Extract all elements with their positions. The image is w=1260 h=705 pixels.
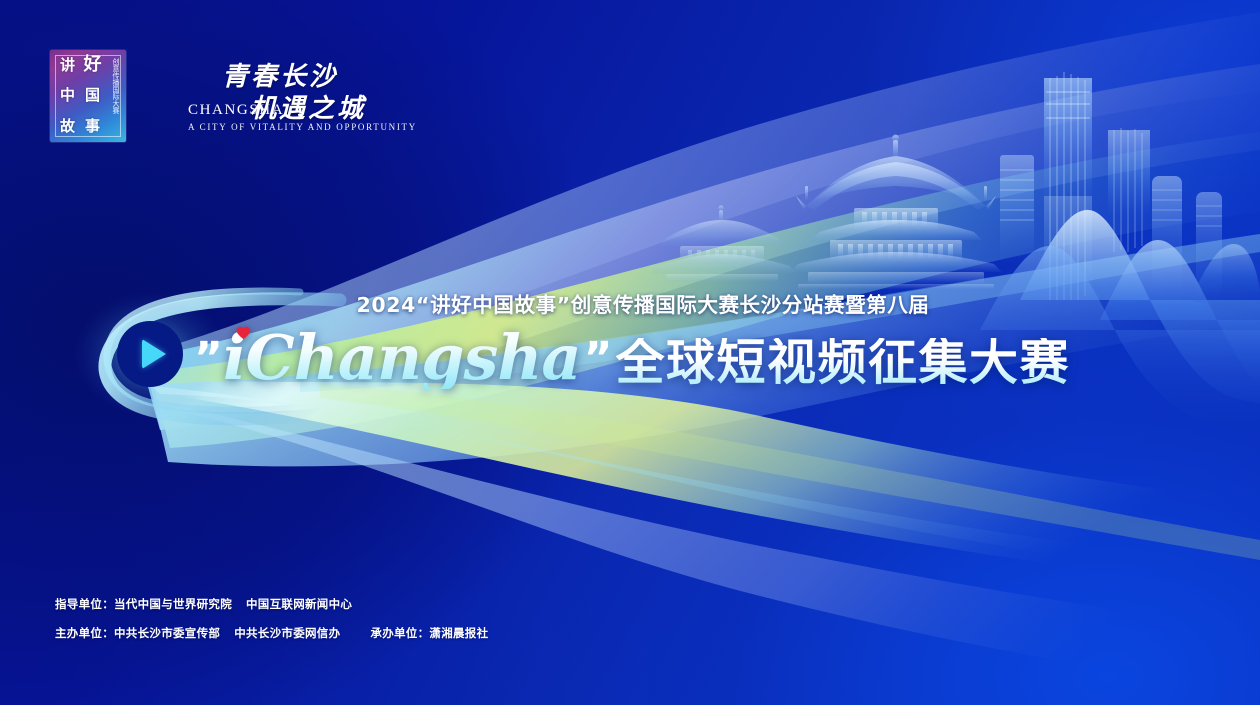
host-label: 主办单位： (55, 626, 114, 640)
headline-block: 2024“讲好中国故事”创意传播国际大赛长沙分站赛暨第八届 ” iChangsh… (0, 288, 1260, 389)
changsha-brand-cn-line2: 机遇之城 (250, 88, 366, 125)
title-ichangsha: iChangsha (221, 327, 583, 389)
title-quote-left: ” (194, 337, 223, 381)
credit-line-guidance: 指导单位：当代中国与世界研究院中国互联网新闻中心 (55, 596, 488, 612)
title-ichangsha-text: iChangsha (223, 321, 581, 394)
host-org-1: 中共长沙市委宣传部 (114, 626, 220, 640)
logo-characters: 讲 好 中 国 故 事 (55, 50, 105, 142)
logo-char-3: 中 (60, 88, 75, 103)
chinese-pavilion-silhouette (790, 135, 1002, 289)
undertaker-label: 承办单位： (370, 626, 429, 640)
credits-block: 指导单位：当代中国与世界研究院中国互联网新闻中心 主办单位：中共长沙市委宣传部中… (55, 596, 488, 641)
event-subtitle: 2024“讲好中国故事”创意传播国际大赛长沙分站赛暨第八届 (0, 288, 1260, 318)
logo-vertical-subtitle: 创意传播国际大赛 (107, 58, 119, 114)
heart-icon (236, 326, 251, 340)
changsha-city-brand: 青春长沙 CHANGSHA 机遇之城 A CITY OF VITALITY AN… (188, 50, 398, 142)
guidance-org-1: 当代中国与世界研究院 (114, 597, 232, 611)
undertaker-org: 潇湘晨报社 (429, 626, 488, 640)
tell-china-story-logo: 讲 好 中 国 故 事 创意传播国际大赛 (50, 50, 126, 142)
changsha-brand-en-tagline: A CITY OF VITALITY AND OPPORTUNITY (188, 122, 417, 132)
title-chinese: 全球短视频征集大赛 (616, 338, 1071, 387)
small-pavilion-silhouette (650, 205, 796, 282)
poster-canvas: 讲 好 中 国 故 事 创意传播国际大赛 青春长沙 CHANGSHA 机遇之城 … (0, 0, 1260, 705)
guidance-label: 指导单位： (55, 597, 114, 611)
logo-char-4: 国 (85, 88, 100, 103)
guidance-org-2: 中国互联网新闻中心 (246, 597, 352, 611)
logo-char-5: 故 (60, 119, 75, 134)
logo-char-2: 好 (84, 56, 102, 74)
main-title: ” iChangsha ” 全球短视频征集大赛 (0, 327, 1260, 389)
logo-char-6: 事 (85, 119, 100, 134)
logo-char-1: 讲 (60, 58, 75, 73)
host-org-2: 中共长沙市委网信办 (234, 626, 340, 640)
brand-row: 讲 好 中 国 故 事 创意传播国际大赛 青春长沙 CHANGSHA 机遇之城 … (50, 50, 398, 142)
credit-line-organizers: 主办单位：中共长沙市委宣传部中共长沙市委网信办承办单位：潇湘晨报社 (55, 625, 488, 641)
title-quote-right: ” (584, 337, 613, 381)
skyscraper-stepped (1000, 155, 1034, 265)
